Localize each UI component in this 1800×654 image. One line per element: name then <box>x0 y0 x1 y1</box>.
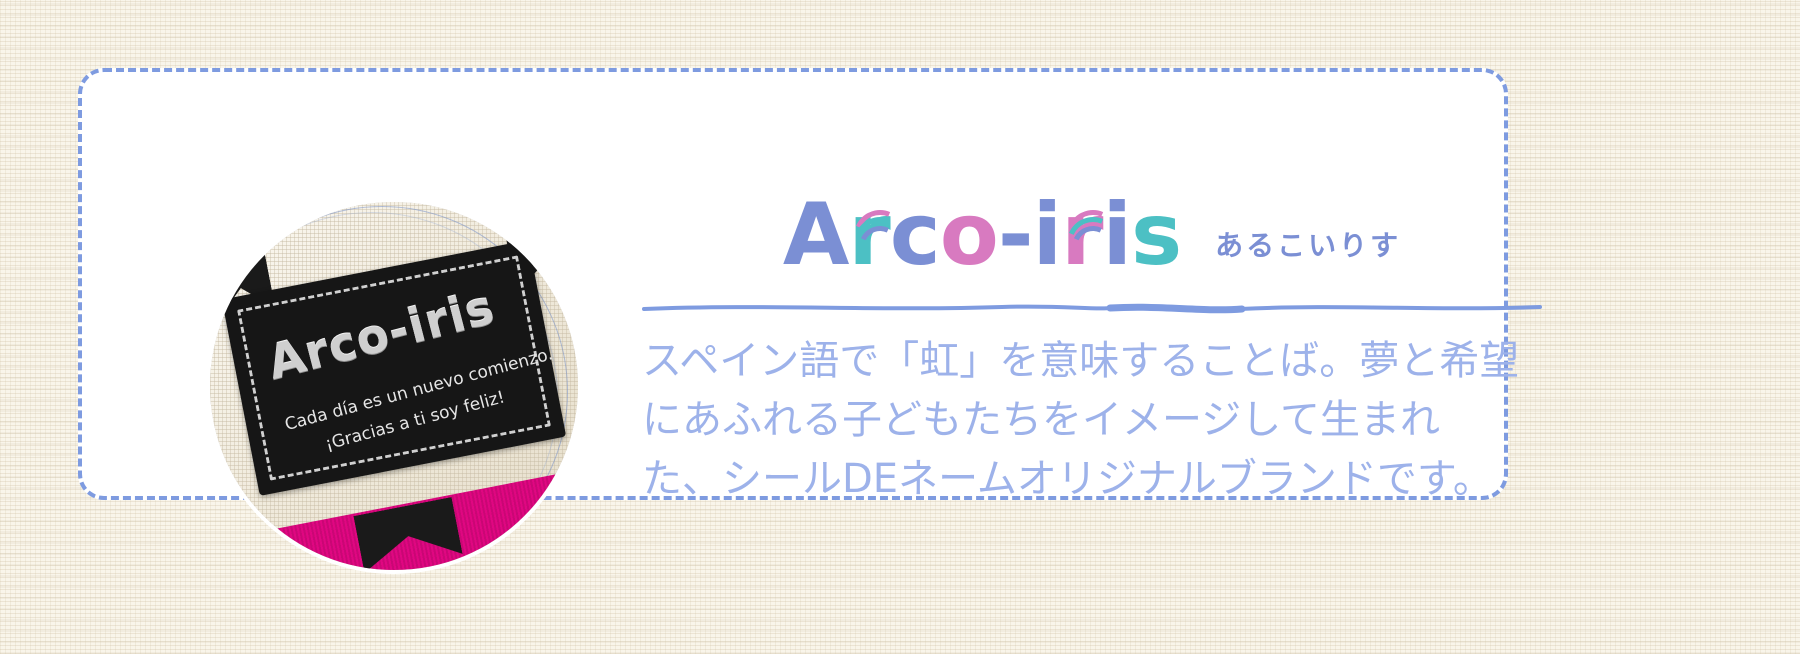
logo-letter-r: r <box>848 192 889 278</box>
logo-letter-i: i <box>1033 192 1061 278</box>
logo-letter-o: o <box>940 192 998 278</box>
description-line-3: た、シールDEネームオリジナルブランドです。 <box>642 450 1542 509</box>
logo-letter-r: r <box>1061 192 1102 278</box>
logo-row: Arco-iris あるこいりす <box>642 182 1542 278</box>
brand-description: スペイン語で「虹」を意味することば。夢と希望 にあふれる子どもたちをイメージして… <box>642 332 1542 510</box>
brand-furigana: あるこいりす <box>1215 224 1401 278</box>
brand-info-card: Arco-iris Cada día es un nuevo comienzo.… <box>78 68 1508 500</box>
logo-letter-dash: - <box>998 192 1033 278</box>
brush-divider <box>642 300 1542 316</box>
brand-label-photo: Arco-iris Cada día es un nuevo comienzo.… <box>210 202 578 570</box>
brand-content: Arco-iris あるこいりす スペイン語で「虹」を意味することば。夢と希望 … <box>642 182 1542 510</box>
brand-logo: Arco-iris <box>783 192 1181 278</box>
logo-letter-c: c <box>890 192 940 278</box>
logo-letter-A: A <box>783 192 849 278</box>
description-line-1: スペイン語で「虹」を意味することば。夢と希望 <box>642 332 1542 391</box>
logo-letter-i: i <box>1102 192 1130 278</box>
logo-letter-s: s <box>1131 192 1181 278</box>
description-line-2: にあふれる子どもたちをイメージして生まれ <box>642 391 1542 450</box>
